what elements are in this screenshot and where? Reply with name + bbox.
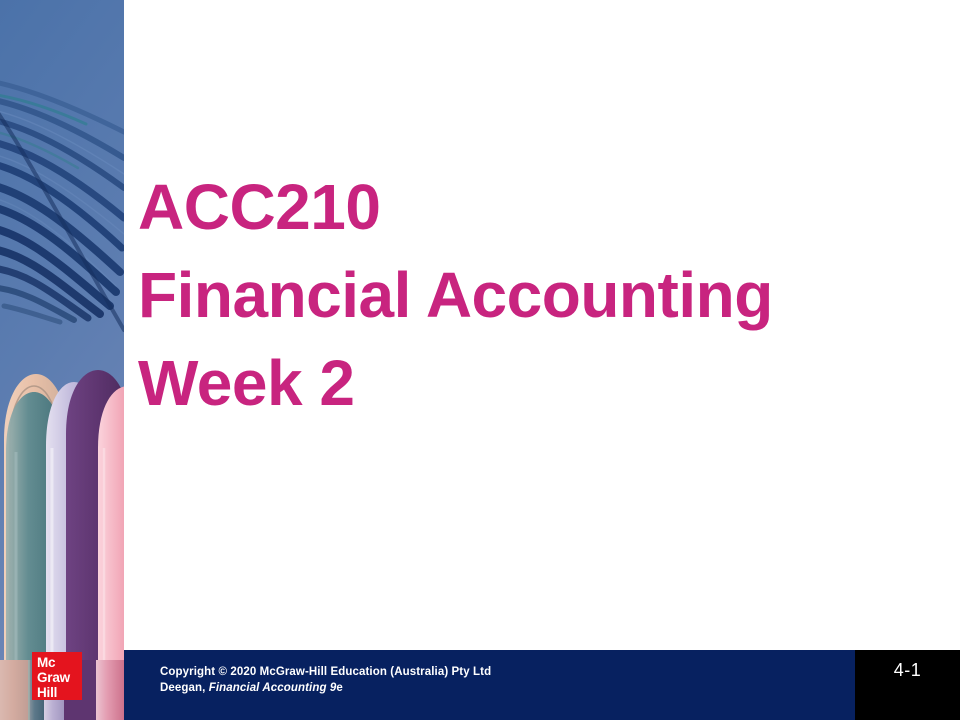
logo-line-2: Graw — [32, 670, 82, 685]
copyright-text: Copyright © 2020 McGraw-Hill Education (… — [160, 664, 491, 696]
citation-author: Deegan, — [160, 682, 209, 694]
title-line-2: Financial Accounting — [138, 251, 928, 339]
title-line-3: Week 2 — [138, 339, 928, 427]
citation-edition-suffix: e — [336, 682, 343, 694]
citation-book-title: Financial Accounting 9 — [209, 682, 337, 694]
palm-frond-and-surfboards-illustration — [0, 0, 124, 720]
title-line-1: ACC210 — [138, 163, 928, 251]
logo-line-1: Mc — [32, 652, 82, 670]
slide-title: ACC210 Financial Accounting Week 2 — [138, 163, 928, 427]
page-number: 4-1 — [855, 660, 960, 681]
slide-canvas: ACC210 Financial Accounting Week 2 Copyr… — [0, 0, 960, 720]
decorative-side-strip — [0, 0, 124, 720]
mcgraw-hill-logo: Mc Graw Hill — [32, 652, 82, 700]
copyright-line: Copyright © 2020 McGraw-Hill Education (… — [160, 664, 491, 680]
surfboard-group — [4, 370, 124, 660]
logo-line-3: Hill — [32, 685, 82, 700]
citation-line: Deegan, Financial Accounting 9e — [160, 680, 491, 696]
